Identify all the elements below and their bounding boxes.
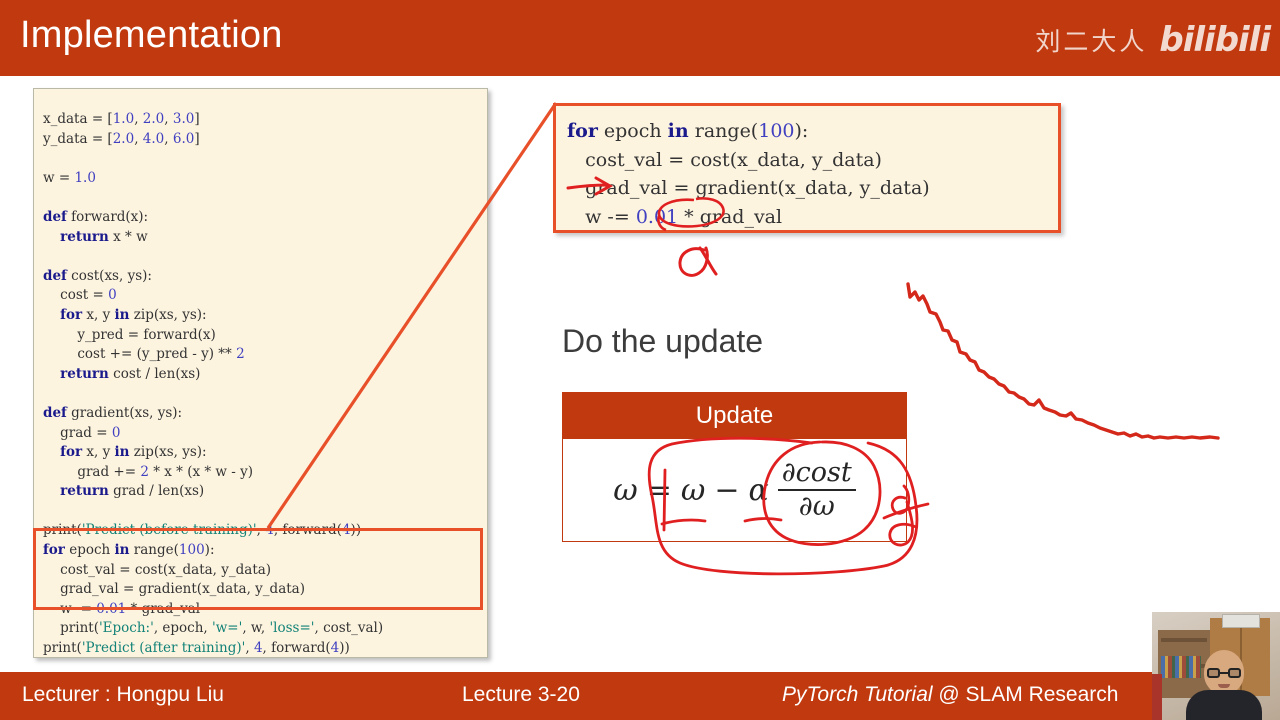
slide-header-bar: Implementation 刘二大人 bilibili: [0, 0, 1280, 76]
formula-alpha: α: [748, 473, 768, 508]
do-the-update-heading: Do the update: [562, 323, 763, 360]
bilibili-logo: bilibili: [1159, 20, 1270, 60]
footer-course-title: PyTorch Tutorial @ SLAM Research: [782, 683, 1118, 707]
hand-drawn-loss-curve: [908, 284, 1218, 438]
slide-footer-bar: Lecturer : Hongpu Liu Lecture 3-20 PyTor…: [0, 672, 1280, 720]
weight-update-formula: ω = ω − α ∂cost ∂ω: [613, 459, 856, 521]
formula-equals: =: [647, 473, 672, 508]
update-table-header: Update: [562, 392, 907, 439]
formula-term1: ω: [681, 473, 705, 508]
footer-course-italic: PyTorch Tutorial: [782, 683, 933, 706]
presenter-glasses: [1207, 668, 1241, 678]
footer-course-rest: @ SLAM Research: [933, 683, 1119, 706]
webcam-red-object: [1152, 674, 1162, 720]
presenter-torso: [1186, 690, 1262, 720]
partial-derivative-fraction: ∂cost ∂ω: [778, 459, 856, 521]
update-formula-table: Update ω = ω − α ∂cost ∂ω: [562, 392, 907, 542]
footer-lecture-number: Lecture 3-20: [462, 683, 580, 707]
page-title: Implementation: [20, 14, 283, 57]
training-loop-highlight-box: [33, 528, 483, 610]
fraction-denominator: ∂ω: [795, 491, 839, 522]
footer-lecturer: Lecturer : Hongpu Liu: [22, 683, 224, 707]
alpha-handwritten-annotation: [680, 248, 716, 275]
update-table-body: ω = ω − α ∂cost ∂ω: [562, 439, 907, 542]
webcam-books: [1161, 656, 1201, 678]
presenter-webcam-pip[interactable]: [1152, 612, 1280, 720]
webcam-storage-box: [1222, 614, 1260, 628]
zoomed-training-loop-callout: for epoch in range(100): cost_val = cost…: [553, 103, 1061, 233]
formula-lhs: ω: [613, 473, 637, 508]
channel-watermark: 刘二大人 bilibili: [1035, 20, 1270, 60]
fraction-numerator: ∂cost: [778, 459, 856, 489]
zoomed-code-text: for epoch in range(100): cost_val = cost…: [567, 117, 930, 231]
channel-name-cn: 刘二大人: [1035, 22, 1147, 58]
formula-minus: −: [714, 473, 739, 508]
